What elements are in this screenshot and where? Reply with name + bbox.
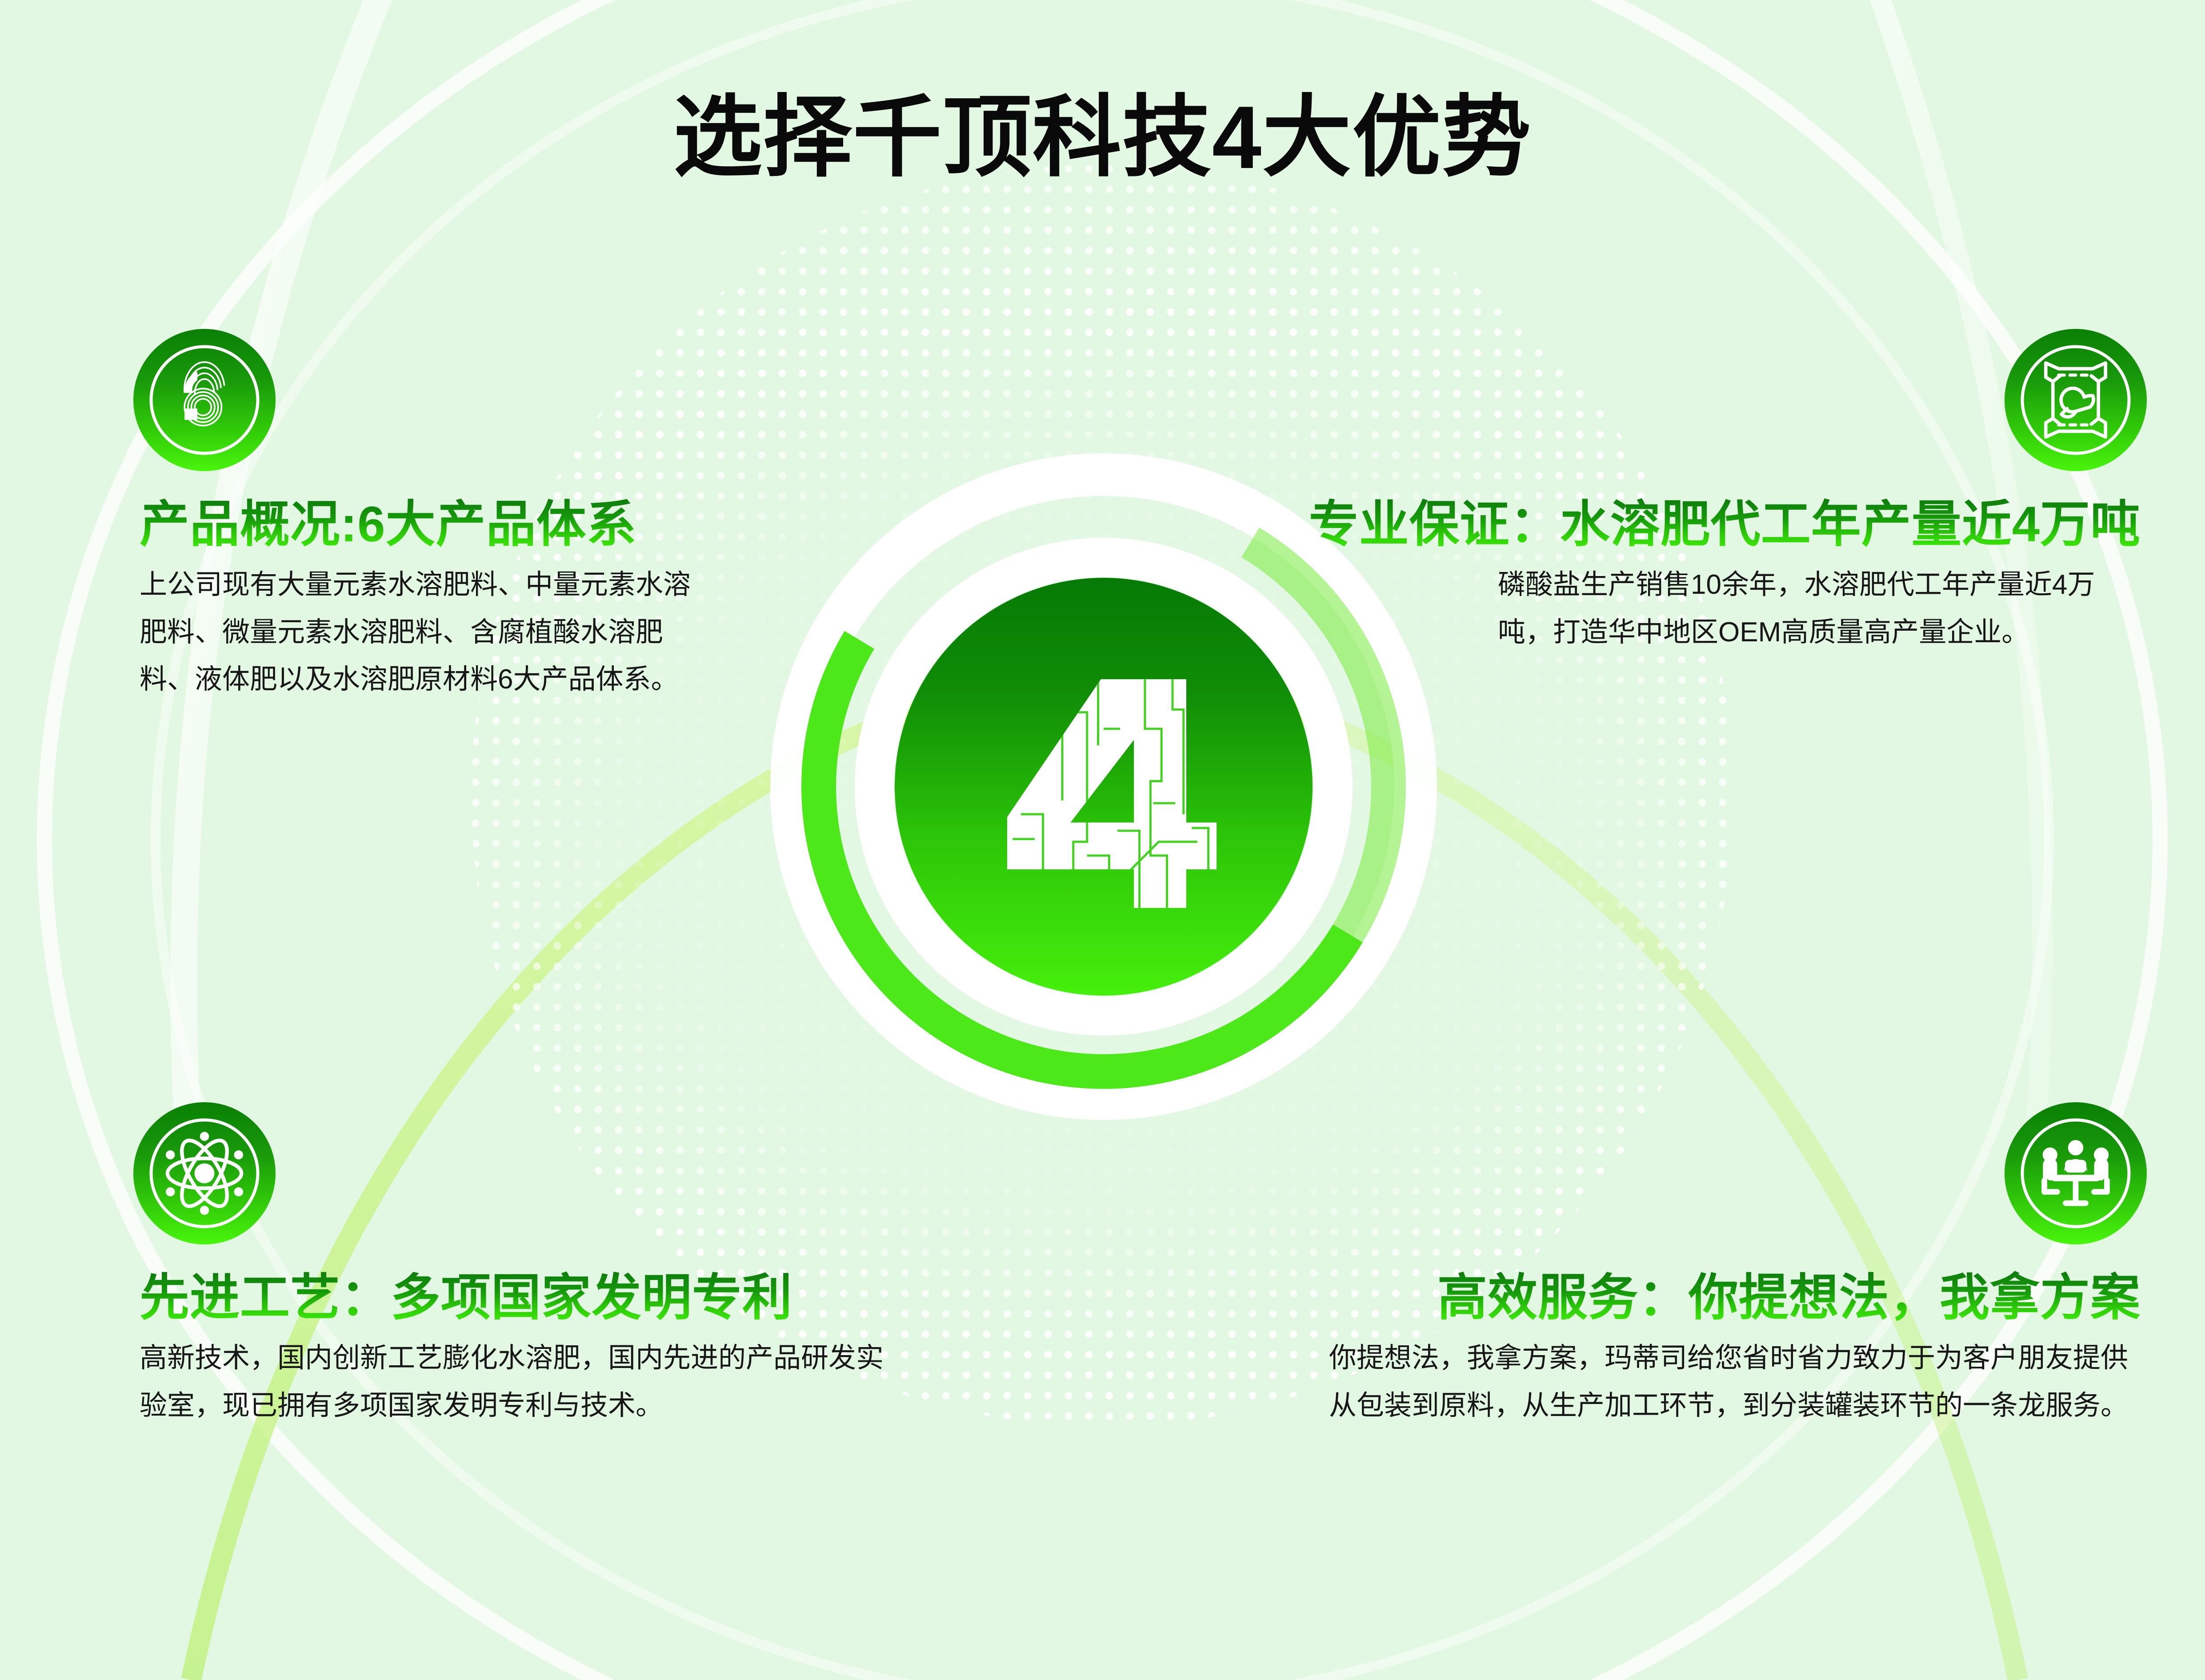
fertilizer-bag-icon xyxy=(2005,329,2147,471)
advantage-heading-bottom-right: 高效服务：你提想法，我拿方案 xyxy=(1329,1270,2141,1325)
advantage-block-bottom-right: 高效服务：你提想法，我拿方案 你提想法，我拿方案，玛蒂司给您省时省力致力于为客户… xyxy=(1329,1102,2147,1429)
circuit-number-4-icon xyxy=(966,649,1241,924)
advantage-block-bottom-left: 先进工艺：多项国家发明专利 高新技术，国内创新工艺膨化水溶肥，国内先进的产品研发… xyxy=(133,1102,924,1429)
advantage-body-top-right: 磷酸盐生产销售10余年，水溶肥代工年产量近4万吨，打造华中地区OEM高质量高产量… xyxy=(1498,561,2147,656)
advantage-block-top-right: 专业保证：水溶肥代工年产量近4万吨 磷酸盐生产销售10余年，水溶肥代工年产量近4… xyxy=(1196,329,2147,656)
advantage-heading-bottom-left: 先进工艺：多项国家发明专利 xyxy=(140,1270,924,1325)
atom-icon xyxy=(133,1102,276,1244)
advantage-body-top-left: 上公司现有大量元素水溶肥料、中量元素水溶肥料、微量元素水溶肥料、含腐植酸水溶肥料… xyxy=(140,561,695,704)
meeting-people-icon xyxy=(2005,1102,2147,1244)
advantage-body-bottom-right: 你提想法，我拿方案，玛蒂司给您省时省力致力于为客户朋友提供从包装到原料，从生产加… xyxy=(1329,1335,2129,1429)
page-title: 选择千顶科技4大优势 xyxy=(0,93,2205,182)
advantage-heading-top-left: 产品概况:6大产品体系 xyxy=(140,497,720,552)
advantage-body-bottom-left: 高新技术，国内创新工艺膨化水溶肥，国内先进的产品研发实验室，现已拥有多项国家发明… xyxy=(140,1335,895,1429)
advantage-block-top-left: 产品概况:6大产品体系 上公司现有大量元素水溶肥料、中量元素水溶肥料、微量元素水… xyxy=(133,329,720,704)
infographic-canvas: 选择千顶科技4大优势 xyxy=(0,0,2205,1680)
advantage-heading-top-right: 专业保证：水溶肥代工年产量近4万吨 xyxy=(1196,497,2141,552)
number-six-badge-icon xyxy=(133,329,276,471)
